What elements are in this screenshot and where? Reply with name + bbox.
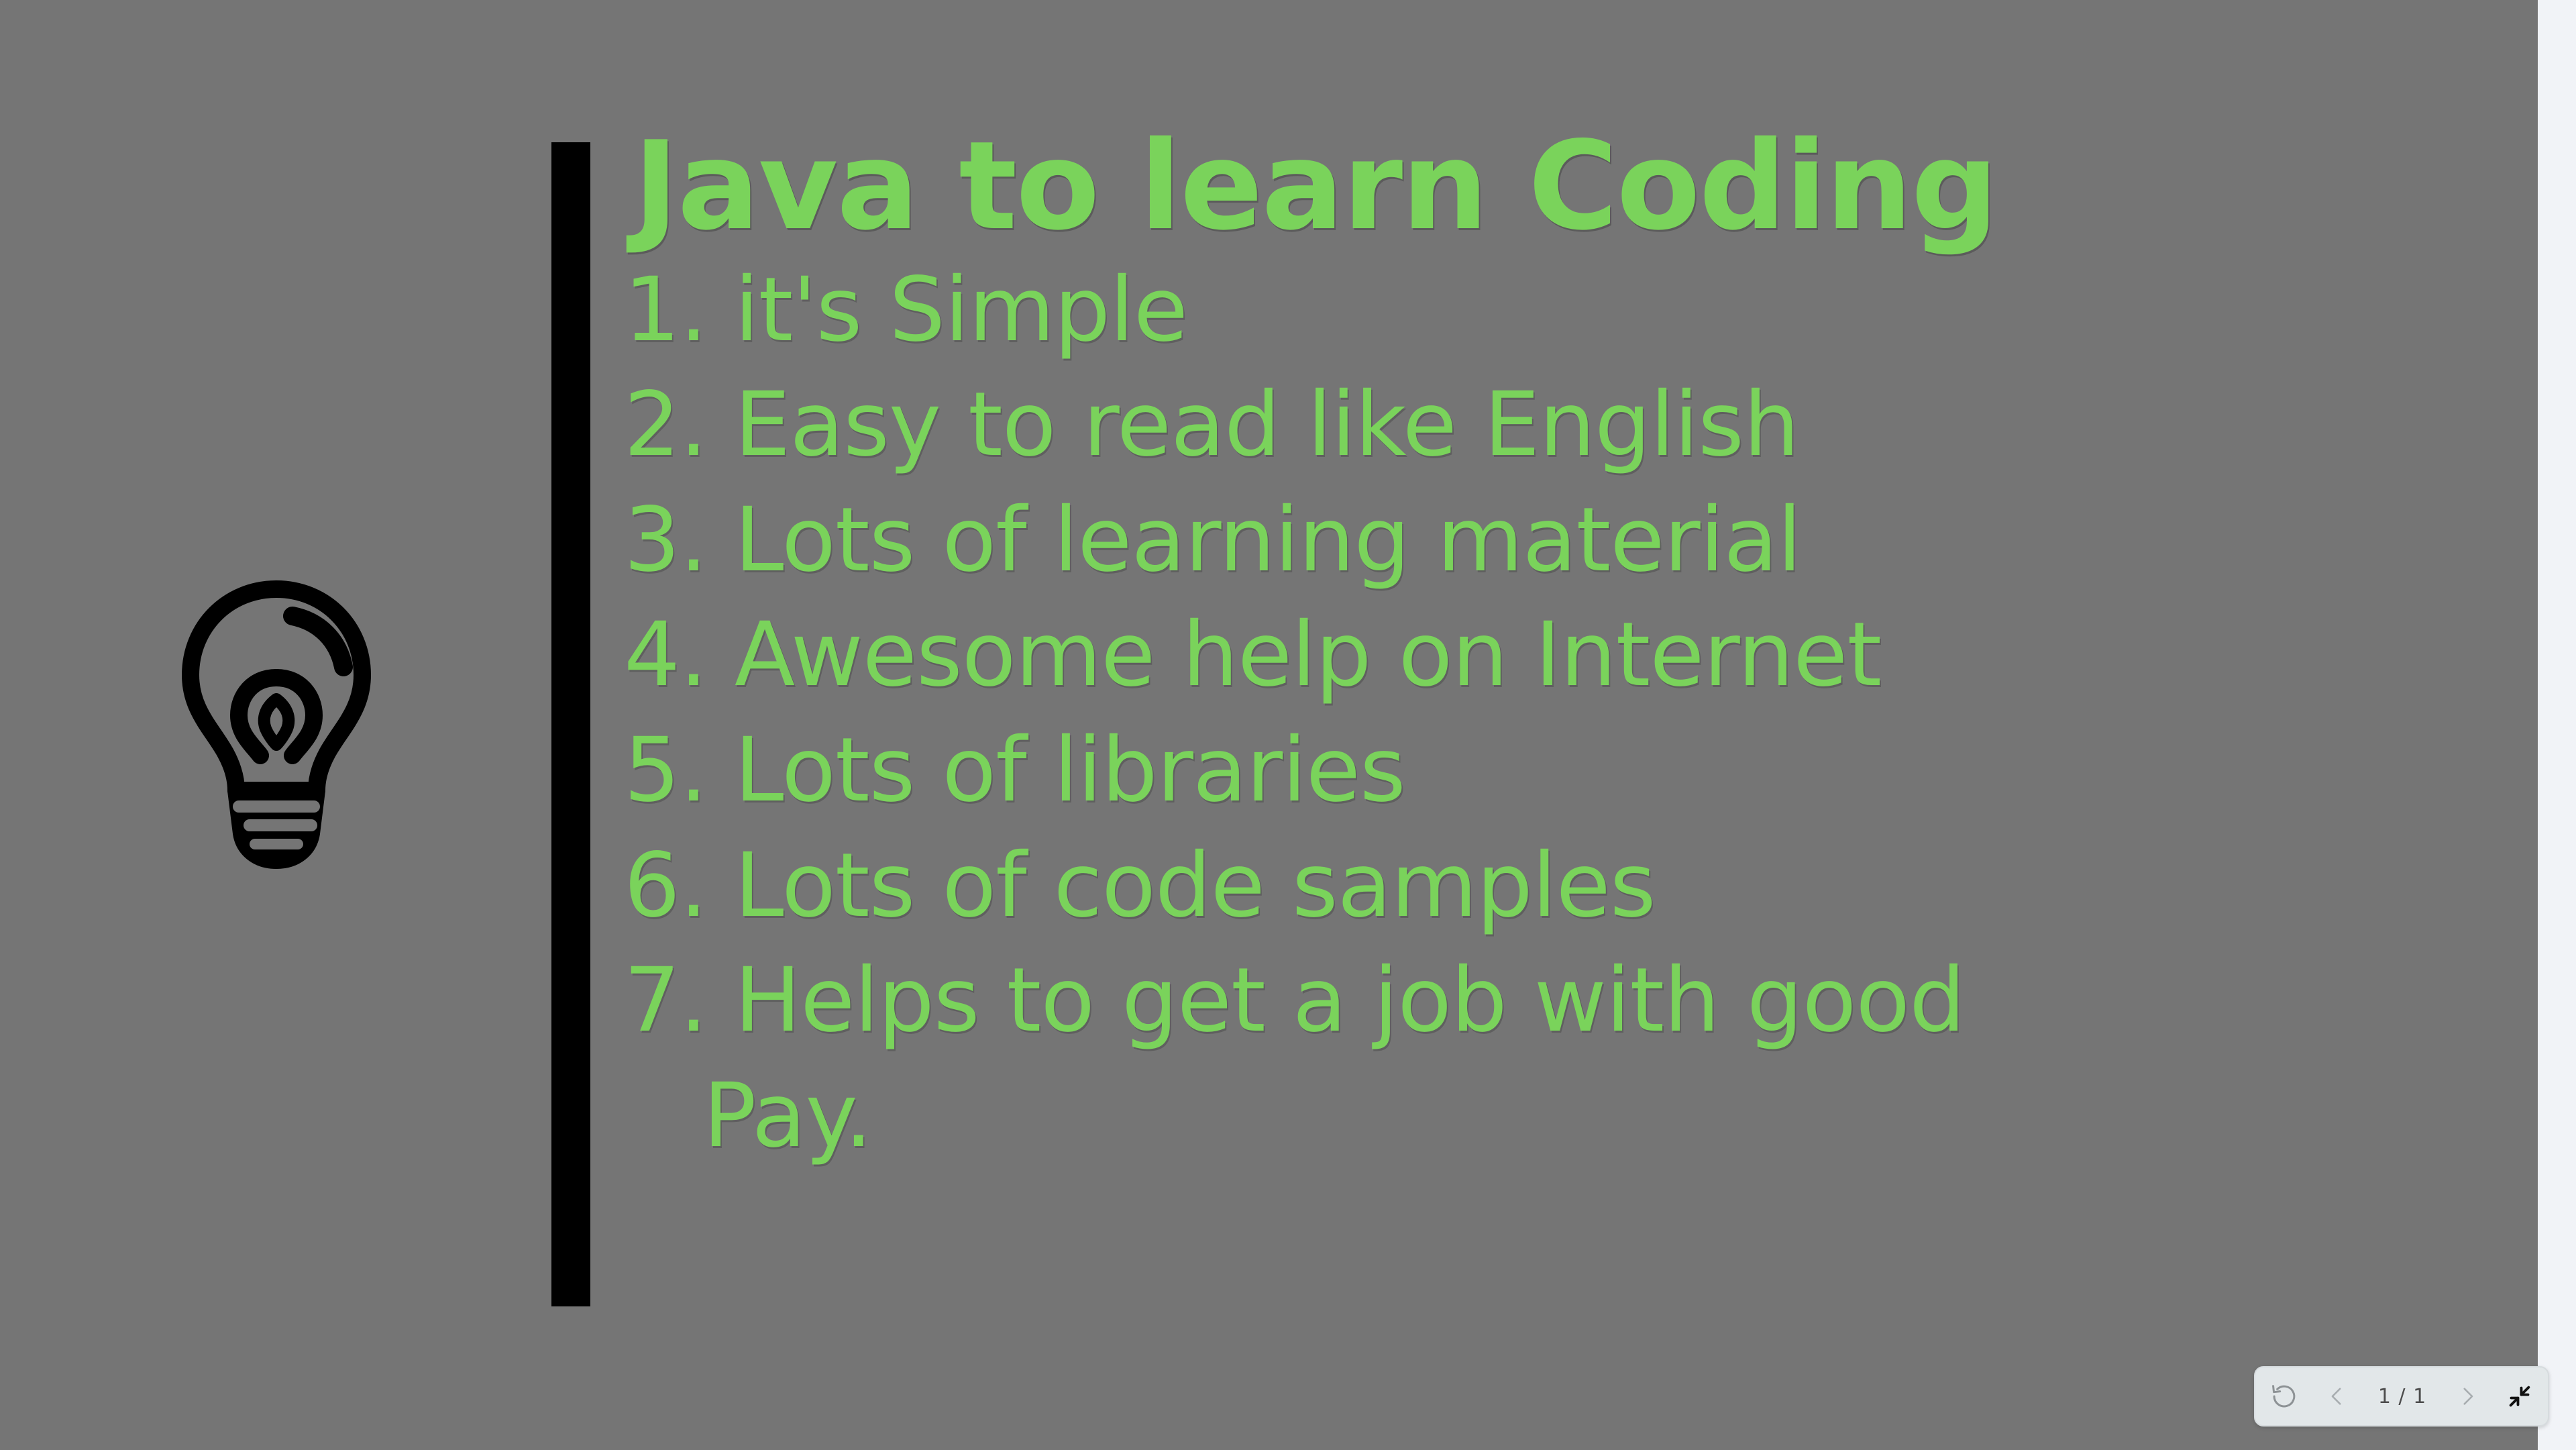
next-page-button[interactable] [2456, 1376, 2479, 1417]
slide-content: Java to learn Coding 1. it's Simple 2. E… [624, 124, 2435, 1174]
accent-bar [551, 142, 590, 1306]
list-item: 5. Lots of libraries [624, 713, 2435, 829]
list-item: 2. Easy to read like English [624, 368, 2435, 483]
list-item: 1. it's Simple [624, 253, 2435, 368]
presentation-viewer: Java to learn Coding 1. it's Simple 2. E… [0, 0, 2576, 1450]
list-item: 4. Awesome help on Internet [624, 598, 2435, 713]
page-title: Java to learn Coding [633, 124, 2435, 249]
exit-fullscreen-button[interactable] [2506, 1376, 2533, 1417]
lightbulb-icon [169, 576, 384, 871]
slide-canvas: Java to learn Coding 1. it's Simple 2. E… [0, 0, 2538, 1450]
previous-page-button[interactable] [2326, 1376, 2349, 1417]
exit-fullscreen-icon [2506, 1383, 2533, 1410]
chevron-right-icon [2456, 1385, 2479, 1408]
bullet-list: 1. it's Simple 2. Easy to read like Engl… [624, 253, 2435, 1174]
chevron-left-icon [2326, 1385, 2349, 1408]
list-item: 7. Helps to get a job with good Pay. [624, 943, 2098, 1174]
player-control-bar: 1 / 1 [2254, 1366, 2549, 1427]
page-indicator: 1 / 1 [2376, 1385, 2428, 1408]
list-item: 3. Lots of learning material [624, 483, 2435, 599]
replay-icon [2270, 1382, 2298, 1410]
replay-button[interactable] [2270, 1376, 2298, 1417]
list-item: 6. Lots of code samples [624, 829, 2435, 944]
